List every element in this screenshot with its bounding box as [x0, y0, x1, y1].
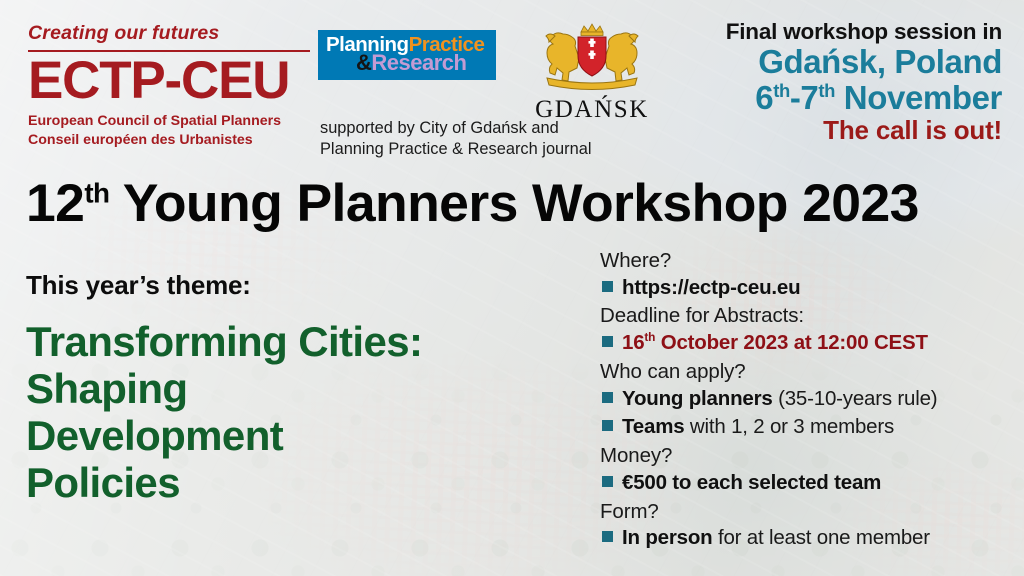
square-bullet-icon [602, 420, 613, 431]
call-is-out-text: The call is out! [726, 116, 1002, 146]
ectp-ceu-logo: Creating our futures ECTP-CEU European C… [28, 24, 310, 150]
title-ordinal-suffix: th [84, 177, 109, 208]
deadline-item: 16th October 2023 at 12:00 CEST [602, 330, 1024, 357]
money-value: €500 to each selected team [622, 470, 881, 497]
crown-icon [581, 24, 603, 36]
deadline-day-sup: th [644, 330, 655, 344]
ppr-ampersand: & [356, 50, 371, 75]
who-item-2-rest: with 1, 2 or 3 members [684, 415, 894, 438]
supported-line-2: Planning Practice & Research journal [320, 139, 650, 160]
square-bullet-icon [602, 531, 613, 542]
square-bullet-icon [602, 392, 613, 403]
money-label: Money? [600, 443, 1024, 469]
ectp-subtitle-fr: Conseil européen des Urbanistes [28, 131, 310, 150]
date-day-2: 7 [800, 79, 818, 116]
website-link[interactable]: https://ectp-ceu.eu [622, 275, 800, 302]
gdansk-city-logo: GDAŃSK [533, 20, 651, 124]
who-can-apply-label: Who can apply? [600, 359, 1024, 385]
form-label: Form? [600, 499, 1024, 525]
theme-line-1: Transforming Cities: [26, 318, 586, 365]
announcement-line-final-session: Final workshop session in [726, 20, 1002, 44]
who-item-1-rest: (35-10-years rule) [773, 387, 938, 410]
announcement-dates: 6th-7th November [726, 80, 1002, 116]
who-item-1-text: Young planners (35-10-years rule) [622, 386, 937, 413]
where-item: https://ectp-ceu.eu [602, 275, 1024, 302]
theme-lead-in: This year’s theme: [26, 270, 251, 301]
deadline-day: 16 [622, 331, 644, 354]
money-item: €500 to each selected team [602, 470, 1024, 497]
title-rest: Young Planners Workshop 2023 [109, 174, 918, 233]
ectp-subtitle: European Council of Spatial Planners Con… [28, 112, 310, 149]
ppr-logo-box: PlanningPractice &Research [318, 30, 496, 80]
poster-canvas: Creating our futures ECTP-CEU European C… [0, 0, 1024, 576]
planning-practice-research-logo: PlanningPractice &Research [318, 30, 496, 80]
theme-statement: Transforming Cities: Shaping Development… [26, 318, 586, 506]
date-separator: - [790, 79, 801, 116]
who-item-teams: Teams with 1, 2 or 3 members [602, 414, 1024, 441]
form-item: In person for at least one member [602, 525, 1024, 552]
where-label: Where? [600, 248, 1024, 274]
date-day-2-sup: th [818, 80, 835, 101]
ectp-subtitle-en: European Council of Spatial Planners [28, 112, 310, 131]
poster-content: Creating our futures ECTP-CEU European C… [0, 0, 1024, 576]
gdansk-wordmark: GDAŃSK [533, 96, 651, 124]
who-item-2-text: Teams with 1, 2 or 3 members [622, 414, 894, 441]
gdansk-coat-of-arms-icon [533, 20, 651, 94]
who-item-1-bold: Young planners [622, 387, 773, 410]
workshop-announcement: Final workshop session in Gdańsk, Poland… [726, 20, 1002, 146]
announcement-location: Gdańsk, Poland [726, 44, 1002, 80]
supported-by-text: supported by City of Gdańsk and Planning… [320, 118, 650, 160]
ectp-wordmark: ECTP-CEU [28, 54, 310, 108]
form-bold: In person [622, 526, 712, 549]
square-bullet-icon [602, 336, 613, 347]
square-bullet-icon [602, 476, 613, 487]
who-item-young-planners: Young planners (35-10-years rule) [602, 386, 1024, 413]
date-month: November [844, 79, 1002, 116]
form-rest: for at least one member [712, 526, 929, 549]
form-item-text: In person for at least one member [622, 525, 930, 552]
ectp-tagline: Creating our futures [28, 24, 310, 44]
page-title: 12th Young Planners Workshop 2023 [26, 176, 1008, 232]
call-details-list: Where? https://ectp-ceu.eu Deadline for … [600, 248, 1024, 554]
ppr-line-2: &Research [356, 50, 466, 76]
square-bullet-icon [602, 281, 613, 292]
deadline-label: Deadline for Abstracts: [600, 303, 1024, 329]
deadline-value: 16th October 2023 at 12:00 CEST [622, 330, 928, 357]
ppr-word-research: Research [371, 50, 466, 75]
date-day-1: 6 [755, 79, 773, 116]
theme-line-3: Development [26, 412, 586, 459]
date-day-1-sup: th [773, 80, 790, 101]
title-ordinal-number: 12 [26, 174, 84, 233]
deadline-rest: October 2023 at 12:00 CEST [655, 331, 928, 354]
theme-line-2: Shaping [26, 365, 586, 412]
who-item-2-bold: Teams [622, 415, 684, 438]
theme-line-4: Policies [26, 459, 586, 506]
